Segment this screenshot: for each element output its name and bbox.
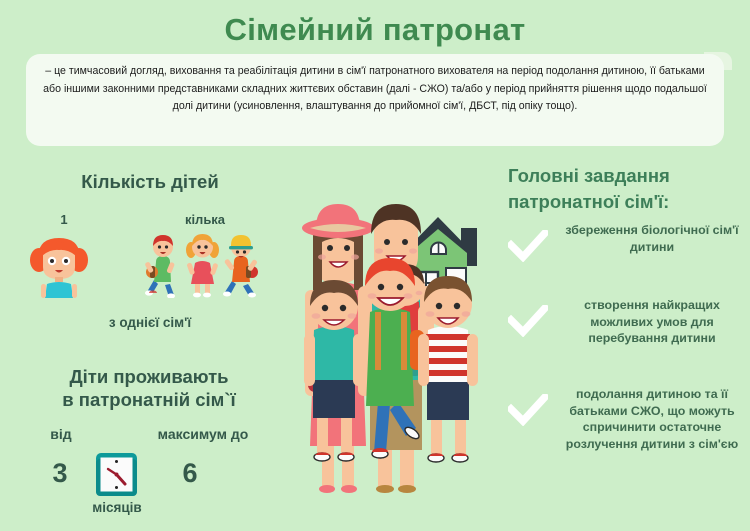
value-min-months: 3 <box>30 458 90 489</box>
single-girl-illustration <box>28 232 90 298</box>
clock-icon <box>92 450 141 502</box>
duration-heading-line1: Діти проживають <box>8 365 290 388</box>
task-item: збереження біологічної сім'ї дитини <box>508 222 750 262</box>
check-icon <box>508 394 548 426</box>
section-heading-count: Кількість дітей <box>20 170 280 193</box>
task-item: створення найкращих можливих умов для пе… <box>508 297 750 347</box>
infographic-page: Сімейний патронат – це тимчасовий догляд… <box>0 0 750 531</box>
label-one-child: 1 <box>34 212 94 227</box>
label-from-one-family: з однієї сім'ї <box>20 315 280 330</box>
task-text: збереження біологічної сім'ї дитини <box>554 222 750 255</box>
value-max-months: 6 <box>160 458 220 489</box>
duration-heading-line2: в патронатній сім`ї <box>8 388 290 411</box>
task-item: подолання дитиною та її батьками СЖО, що… <box>508 386 750 452</box>
three-children-illustration <box>140 228 265 298</box>
task-text: створення найкращих можливих умов для пе… <box>554 297 750 347</box>
tasks-heading-line2: патронатної сім'ї: <box>508 189 748 215</box>
check-icon <box>508 230 548 262</box>
family-with-house-illustration <box>286 190 516 531</box>
intro-text: – це тимчасовий догляд, виховання та реа… <box>42 63 708 116</box>
section-heading-tasks: Головні завдання патронатної сім'ї: <box>508 163 748 215</box>
section-heading-duration: Діти проживають в патронатній сім`ї <box>8 365 290 411</box>
label-few-children: кілька <box>160 212 250 227</box>
task-text: подолання дитиною та її батьками СЖО, що… <box>554 386 750 452</box>
check-icon <box>508 305 548 337</box>
label-months: місяців <box>52 500 182 515</box>
tasks-heading-line1: Головні завдання <box>508 163 748 189</box>
label-maximum-to: максимум до <box>128 426 278 442</box>
label-from: від <box>26 426 96 442</box>
intro-panel: – це тимчасовий догляд, виховання та реа… <box>26 54 724 146</box>
page-title: Сімейний патронат <box>0 12 750 48</box>
